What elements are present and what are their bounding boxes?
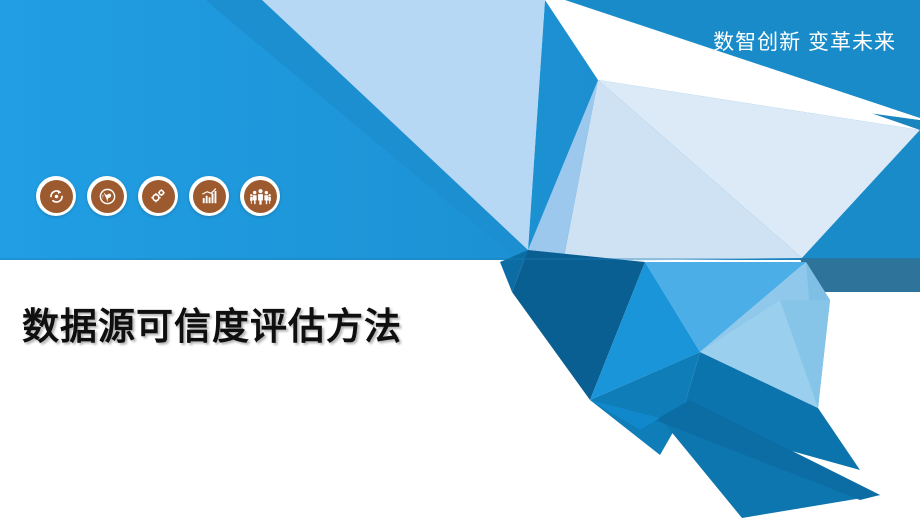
- band-edge-line: [0, 258, 920, 260]
- gears-icon: [142, 180, 175, 213]
- slide-root: 数智创新 变革未来: [0, 0, 920, 518]
- people-group-icon: [244, 180, 277, 213]
- globe-icon: [91, 180, 124, 213]
- icon-badge-people-group[interactable]: [240, 176, 280, 216]
- icon-badge-refresh-cycle[interactable]: [36, 176, 76, 216]
- header-tagline: 数智创新 变革未来: [713, 26, 896, 56]
- page-title: 数据源可信度评估方法: [22, 296, 402, 350]
- icon-row: [36, 176, 280, 216]
- background-artwork: [0, 0, 920, 518]
- icon-badge-bar-chart[interactable]: [189, 176, 229, 216]
- bar-chart-icon: [193, 180, 226, 213]
- icon-badge-globe[interactable]: [87, 176, 127, 216]
- icon-badge-gears[interactable]: [138, 176, 178, 216]
- refresh-cycle-icon: [40, 180, 73, 213]
